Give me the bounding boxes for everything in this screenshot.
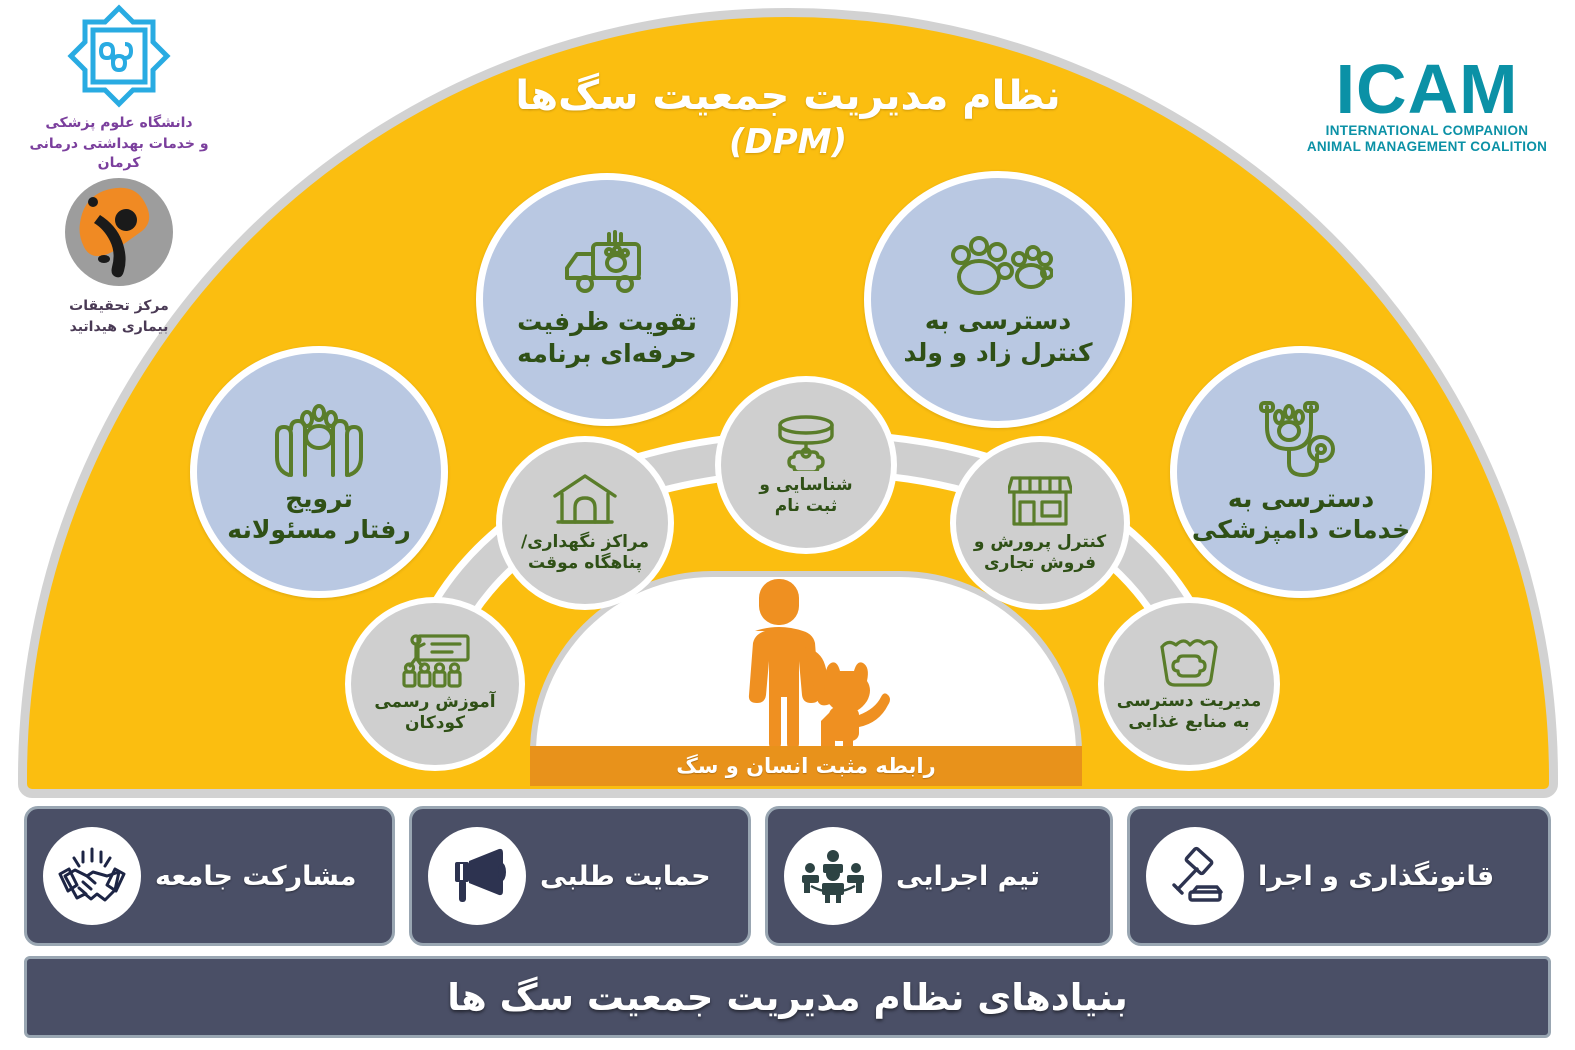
component-label: مراکز نگهداری/پناهگاه موقت <box>521 532 649 575</box>
foundation-community-engagement[interactable]: مشارکت جامعه <box>24 806 395 946</box>
star-octagon-emblem-icon <box>67 93 171 112</box>
component-label: دسترسی بهکنترل زاد و ولد <box>904 305 1093 368</box>
foundation-label: قانونگذاری و اجرا <box>1258 861 1494 892</box>
component-label: آموزش رسمیکودکان <box>374 692 495 735</box>
icam-wordmark: ICAM <box>1293 56 1561 123</box>
core-label-bar: رابطه مثبت انسان و سگ <box>530 746 1082 786</box>
component-capacity-building[interactable]: تقویت ظرفیتحرفه‌ای برنامه <box>476 173 738 426</box>
research-center-name-line1: مرکز تحقیقات <box>14 297 224 316</box>
component-commercial-breeding-control[interactable]: کنترل پرورش وفروش تجاری <box>950 436 1130 610</box>
meeting-table-icon <box>784 827 882 925</box>
food-bowl-bone-icon <box>1156 635 1222 687</box>
foundation-label: مشارکت جامعه <box>155 861 357 892</box>
collar-bone-tag-icon <box>771 413 841 471</box>
component-birth-control-access[interactable]: دسترسی بهکنترل زاد و ولد <box>864 171 1132 428</box>
component-formal-child-education[interactable]: آموزش رسمیکودکان <box>345 597 525 771</box>
hands-holding-paw-icon <box>269 399 369 479</box>
icam-subtitle-line1: INTERNATIONAL COMPANION <box>1293 123 1561 140</box>
component-label: مدیریت دسترسیبه منابع غذایی <box>1117 691 1261 734</box>
foundation-label: تیم اجرایی <box>896 861 1040 892</box>
component-identification-registration[interactable]: شناسایی وثبت نام <box>715 376 897 554</box>
person-with-dog-icon <box>701 577 911 757</box>
foundation-advocacy[interactable]: حمایت طلبی <box>409 806 751 946</box>
gavel-icon <box>1146 827 1244 925</box>
icam-logo: ICAM INTERNATIONAL COMPANION ANIMAL MANA… <box>1293 56 1561 156</box>
foundation-legislation[interactable]: قانونگذاری و اجرا <box>1127 806 1551 946</box>
research-center-name-line2: بیماری هیداتید <box>14 318 224 337</box>
core-label-text: رابطه مثبت انسان و سگ <box>676 754 935 778</box>
icam-subtitle-line2: ANIMAL MANAGEMENT COALITION <box>1293 139 1561 156</box>
foundations-row: قانونگذاری و اجرا تیم اجرایی <box>24 806 1551 946</box>
university-name-line1: دانشگاه علوم پزشکی <box>14 114 224 133</box>
dog-head-circle-icon <box>60 276 178 295</box>
dog-house-icon <box>551 472 619 528</box>
component-label: ترویجرفتار مسئولانه <box>227 483 410 546</box>
van-with-paw-icon <box>559 230 655 302</box>
banner-label: بنیادهای نظام مدیریت جمعیت سگ ها <box>447 976 1128 1019</box>
foundation-executive-team[interactable]: تیم اجرایی <box>765 806 1113 946</box>
infographic-root: نظام مدیریت جمعیت سگ‌ها (DPM) <box>0 0 1575 1050</box>
bottom-banner: بنیادهای نظام مدیریت جمعیت سگ ها <box>24 956 1551 1038</box>
component-label: شناسایی وثبت نام <box>759 475 852 518</box>
handshake-icon <box>43 827 141 925</box>
classroom-teaching-icon <box>400 634 470 688</box>
megaphone-icon <box>428 827 526 925</box>
component-label: دسترسی بهخدمات دامپزشکی <box>1192 483 1410 546</box>
two-paw-prints-icon <box>943 231 1053 301</box>
component-veterinary-access[interactable]: دسترسی بهخدمات دامپزشکی <box>1170 346 1432 598</box>
component-label: تقویت ظرفیتحرفه‌ای برنامه <box>517 306 697 369</box>
shop-storefront-icon <box>1008 472 1072 528</box>
component-responsible-ownership[interactable]: ترویجرفتار مسئولانه <box>190 346 448 598</box>
university-name-line2: و خدمات بهداشتی درمانی کرمان <box>14 135 224 173</box>
stethoscope-paw-icon <box>1249 399 1353 479</box>
component-label: کنترل پرورش وفروش تجاری <box>974 532 1106 575</box>
component-food-resource-management[interactable]: مدیریت دسترسیبه منابع غذایی <box>1098 597 1280 771</box>
left-logos: دانشگاه علوم پزشکی و خدمات بهداشتی درمان… <box>14 4 224 304</box>
foundation-label: حمایت طلبی <box>540 861 711 892</box>
component-shelter-holding-facility[interactable]: مراکز نگهداری/پناهگاه موقت <box>496 436 674 610</box>
